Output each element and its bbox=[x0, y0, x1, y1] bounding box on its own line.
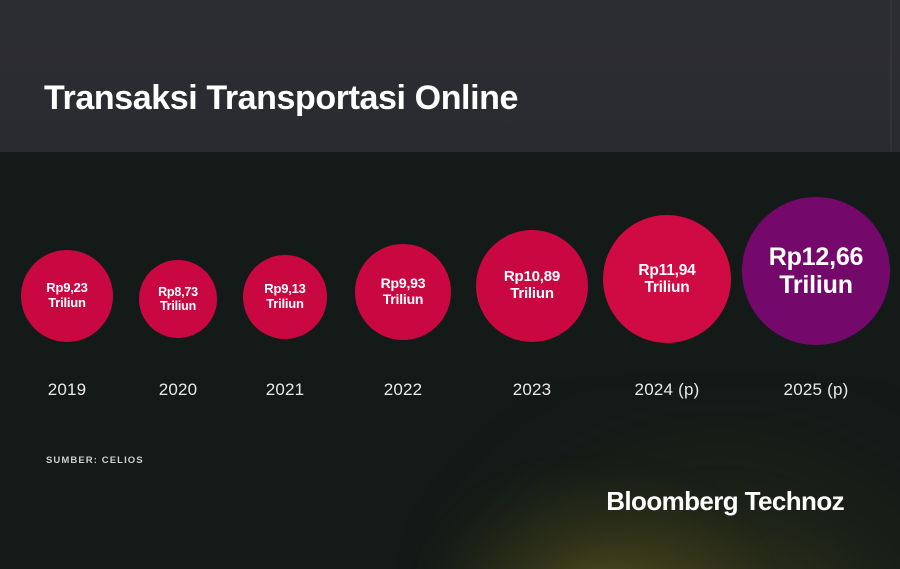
year-label-2024-p-: 2024 (p) bbox=[635, 380, 700, 400]
year-label-2025-p-: 2025 (p) bbox=[784, 380, 849, 400]
bubble-2020: Rp8,73Triliun bbox=[139, 260, 217, 338]
infographic-canvas: Transaksi Transportasi Online Rp9,23Tril… bbox=[0, 0, 900, 569]
bubble-value: Rp12,66 bbox=[769, 243, 864, 271]
year-label-2022: 2022 bbox=[384, 380, 423, 400]
bubble-2024-p-: Rp11,94Triliun bbox=[603, 215, 731, 343]
bubble-value: Rp11,94 bbox=[638, 262, 695, 279]
bubble-unit: Triliun bbox=[383, 292, 424, 308]
year-label-2019: 2019 bbox=[48, 380, 87, 400]
year-label-2021: 2021 bbox=[266, 380, 305, 400]
bubble-value: Rp9,23 bbox=[46, 281, 87, 296]
source-label: SUMBER: CELIOS bbox=[46, 455, 144, 466]
brand-logo: Bloomberg Technoz bbox=[606, 486, 844, 517]
page-title: Transaksi Transportasi Online bbox=[44, 76, 518, 120]
bubble-value: Rp9,13 bbox=[264, 282, 305, 297]
year-label-2020: 2020 bbox=[159, 380, 198, 400]
bubble-unit: Triliun bbox=[644, 279, 689, 296]
bubble-value: Rp10,89 bbox=[504, 269, 560, 286]
bubble-unit: Triliun bbox=[160, 299, 196, 313]
bubble-2021: Rp9,13Triliun bbox=[243, 255, 327, 339]
bubble-2019: Rp9,23Triliun bbox=[21, 250, 113, 342]
bubble-chart: Rp9,23TriliunRp8,73TriliunRp9,13TriliunR… bbox=[0, 152, 900, 357]
bubble-unit: Triliun bbox=[510, 286, 554, 303]
bubble-unit: Triliun bbox=[48, 296, 86, 311]
bubble-value: Rp8,73 bbox=[158, 285, 198, 299]
bubble-2023: Rp10,89Triliun bbox=[476, 230, 588, 342]
background-glow bbox=[410, 389, 900, 569]
year-axis: 201920202021202220232024 (p)2025 (p) bbox=[0, 380, 900, 414]
bubble-2022: Rp9,93Triliun bbox=[355, 244, 451, 340]
bubble-unit: Triliun bbox=[266, 297, 304, 312]
bubble-2025-p-: Rp12,66Triliun bbox=[742, 197, 890, 345]
header-band: Transaksi Transportasi Online bbox=[0, 0, 900, 152]
bubble-value: Rp9,93 bbox=[381, 276, 426, 292]
year-label-2023: 2023 bbox=[513, 380, 552, 400]
bubble-unit: Triliun bbox=[779, 271, 853, 299]
